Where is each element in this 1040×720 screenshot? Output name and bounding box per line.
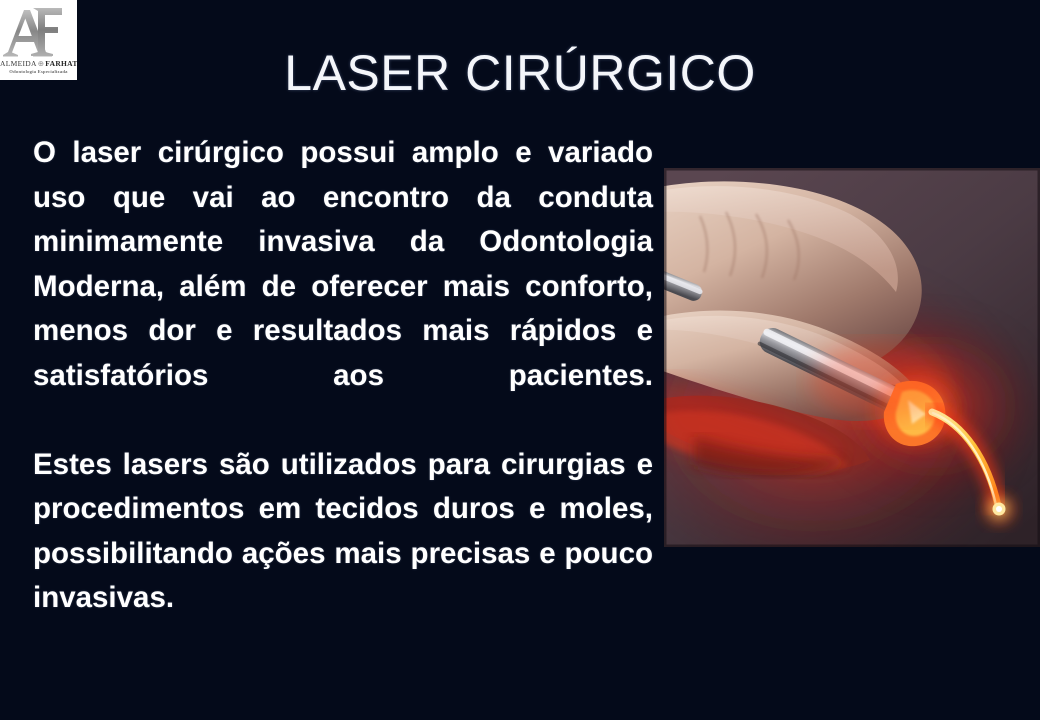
slide-canvas: ALMEIDA⊕FARHAT Odontologia Especializada… — [0, 0, 1040, 720]
laser-photo-illustration — [664, 168, 1040, 547]
body-paragraph-1: O laser cirúrgico possui amplo e variado… — [33, 131, 653, 443]
slide-body-text: O laser cirúrgico possui amplo e variado… — [33, 131, 653, 665]
body-paragraph-2: Estes lasers são utilizados para cirurgi… — [33, 443, 653, 666]
laser-photo — [664, 168, 1040, 547]
slide-title: LASER CIRÚRGICO — [0, 44, 1040, 102]
